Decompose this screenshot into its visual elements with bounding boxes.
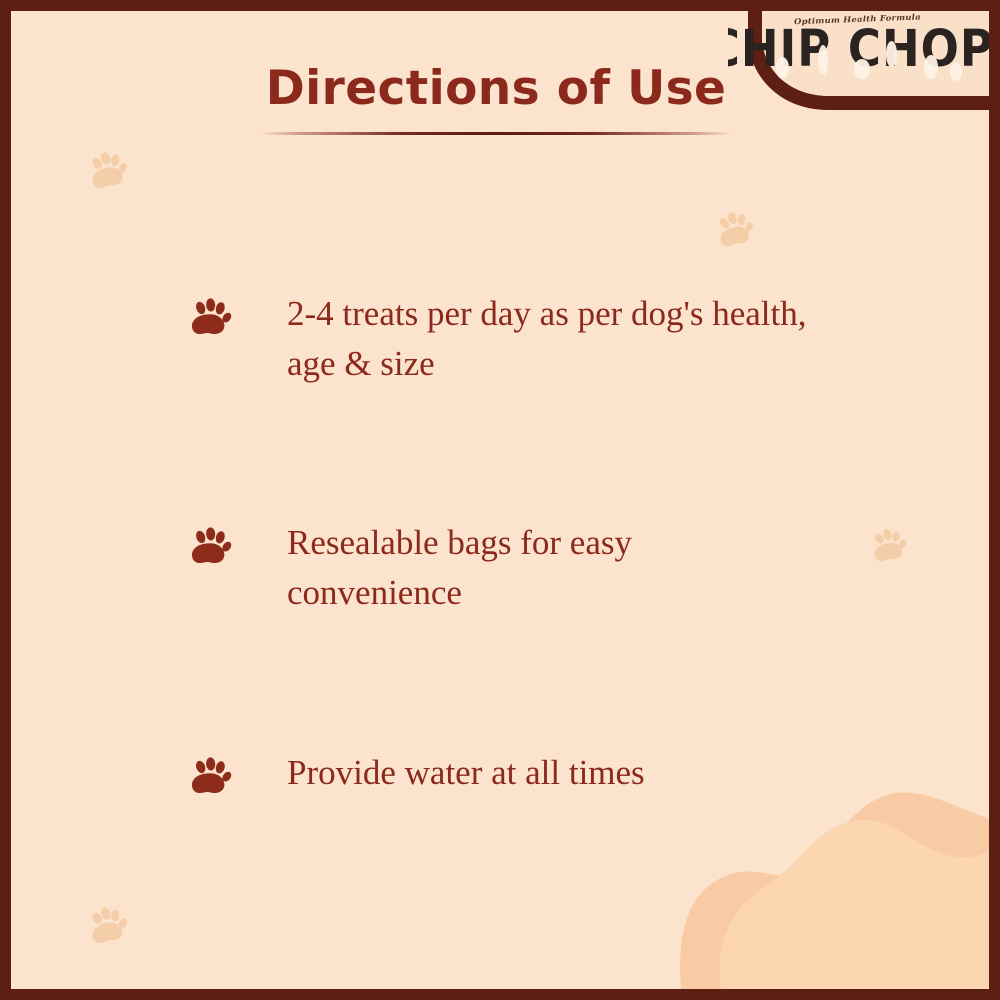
- blob-front: [720, 820, 989, 989]
- list-item-text: Resealable bags for easy convenience: [287, 518, 807, 617]
- logo-texture-speck-5: [924, 55, 938, 79]
- logo-texture-speck-4: [886, 41, 897, 67]
- directions-list: 2-4 treats per day as per dog's health, …: [189, 289, 829, 805]
- paw-print-icon: [189, 526, 233, 575]
- list-item-text: Provide water at all times: [287, 748, 645, 798]
- blob-back: [680, 793, 989, 989]
- list-item: Resealable bags for easy convenience: [189, 518, 829, 617]
- list-item: 2-4 treats per day as per dog's health, …: [189, 289, 829, 388]
- bg-paw-bottom-left: [82, 900, 134, 952]
- logo-name-suffix: s: [996, 47, 1000, 68]
- logo-texture-speck-1: [776, 57, 789, 79]
- logo-texture-speck-3: [854, 59, 870, 79]
- bg-paw-top-left: [82, 145, 134, 197]
- logo-texture-speck-6: [950, 63, 962, 81]
- bg-paw-mid-right: [866, 523, 912, 569]
- paw-print-icon: [189, 756, 233, 805]
- logo-content: Optimum Health Formula CHIP CHOP s: [728, 11, 986, 111]
- brand-logo-badge[interactable]: Optimum Health Formula CHIP CHOP s: [728, 0, 1000, 126]
- paw-print-icon: [189, 297, 233, 346]
- list-item: Provide water at all times: [189, 748, 829, 805]
- bg-paw-top-right: [710, 205, 761, 256]
- title-underline-rule: [261, 132, 731, 135]
- logo-texture-speck-2: [818, 45, 828, 75]
- list-item-text: 2-4 treats per day as per dog's health, …: [287, 289, 807, 388]
- promo-card: Directions of Use Optimum Health Formula…: [0, 0, 1000, 1000]
